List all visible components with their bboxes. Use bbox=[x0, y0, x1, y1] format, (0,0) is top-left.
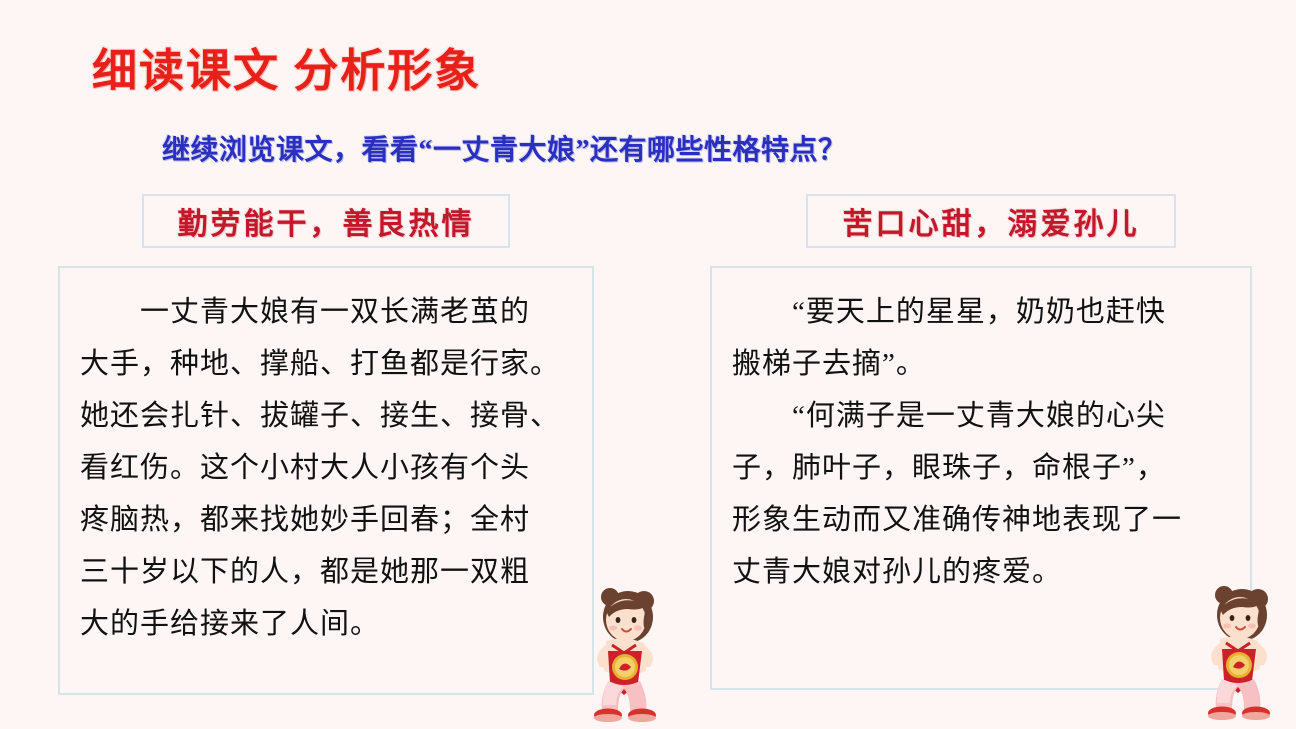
text-line: “要天上的星星，奶奶也赶快 bbox=[732, 286, 1228, 338]
column-heading-right: 苦口心甜，溺爱孙儿 bbox=[806, 194, 1176, 248]
column-heading-left: 勤劳能干，善良热情 bbox=[142, 194, 510, 248]
text-line: 大手，种地、撑船、打鱼都是行家。 bbox=[80, 338, 570, 390]
text-line: 看红伤。这个小村大人小孩有个头 bbox=[80, 442, 570, 494]
text-line: 搬梯子去摘”。 bbox=[732, 338, 1228, 390]
text-line: 大的手给接来了人间。 bbox=[80, 598, 570, 650]
column-heading-right-label: 苦口心甜，溺爱孙儿 bbox=[843, 199, 1140, 243]
text-line: 三十岁以下的人，都是她那一双粗 bbox=[80, 546, 570, 598]
slide-canvas: 细读课文 分析形象 继续浏览课文，看看“一丈青大娘”还有哪些性格特点？ 勤劳能干… bbox=[0, 0, 1296, 729]
text-line: 形象生动而又准确传神地表现了一 bbox=[732, 494, 1228, 546]
text-line: “何满子是一丈青大娘的心尖 bbox=[732, 390, 1228, 442]
text-panel-right: “要天上的星星，奶奶也赶快 搬梯子去摘”。 “何满子是一丈青大娘的心尖 子，肺叶… bbox=[710, 266, 1252, 690]
text-line: 一丈青大娘有一双长满老茧的 bbox=[80, 286, 570, 338]
column-heading-left-label: 勤劳能干，善良热情 bbox=[178, 199, 475, 243]
page-title: 细读课文 分析形象 bbox=[92, 46, 481, 98]
text-panel-left: 一丈青大娘有一双长满老茧的 大手，种地、撑船、打鱼都是行家。 她还会扎针、拔罐子… bbox=[58, 266, 594, 695]
chinese-child-illustration-icon bbox=[1186, 583, 1286, 723]
page-subtitle: 继续浏览课文，看看“一丈青大娘”还有哪些性格特点？ bbox=[162, 128, 847, 168]
text-line: 她还会扎针、拔罐子、接生、接骨、 bbox=[80, 390, 570, 442]
text-line: 疼脑热，都来找她妙手回春；全村 bbox=[80, 494, 570, 546]
chinese-child-illustration-icon bbox=[572, 585, 672, 725]
text-line: 丈青大娘对孙儿的疼爱。 bbox=[732, 546, 1228, 598]
text-line: 子，肺叶子，眼珠子，命根子”， bbox=[732, 442, 1228, 494]
